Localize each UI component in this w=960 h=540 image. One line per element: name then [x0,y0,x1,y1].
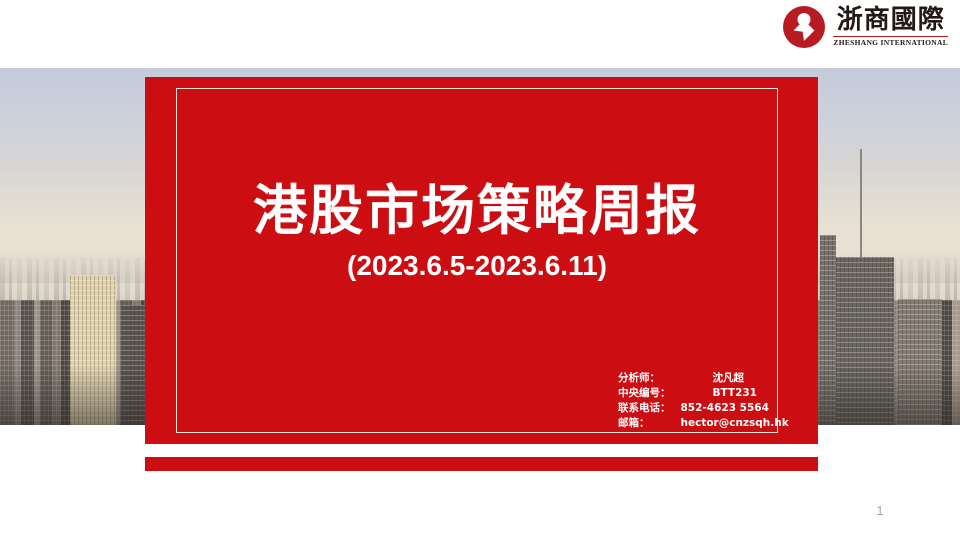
analyst-label-license: 中央编号： [618,386,681,401]
analyst-value-name: 沈凡超 [681,371,789,386]
analyst-row-phone: 联系电话： 852-4623 5564 [618,401,789,416]
lower-accent-bar [145,457,818,471]
page-subtitle: (2023.6.5-2023.6.11) [176,250,778,282]
analyst-info-block: 分析师： 沈凡超 中央编号： BTT231 联系电话： 852-4623 556… [618,371,789,431]
analyst-row-license: 中央编号： BTT231 [618,386,789,401]
analyst-label-phone: 联系电话： [618,401,681,416]
logo-name-en: ZHESHANG INTERNATIONAL [833,39,948,47]
analyst-value-phone: 852-4623 5564 [681,401,789,416]
tower-antenna [860,149,862,257]
analyst-label-name: 分析师： [618,371,681,386]
company-logo: 浙商國際 ZHESHANG INTERNATIONAL [783,6,948,48]
analyst-info-table: 分析师： 沈凡超 中央编号： BTT231 联系电话： 852-4623 556… [618,371,789,431]
title-slide: 浙商國際 ZHESHANG INTERNATIONAL 港股市场策略周报 (20… [0,0,960,540]
logo-name-cn: 浙商國際 [837,7,945,35]
analyst-value-license: BTT231 [681,386,789,401]
zheshang-circle-logo-icon [783,6,825,48]
analyst-value-email: hector@cnzsqh.hk [681,416,789,431]
analyst-row-name: 分析师： 沈凡超 [618,371,789,386]
analyst-row-email: 邮箱： hector@cnzsqh.hk [618,416,789,431]
logo-divider [833,36,948,37]
title-block: 港股市场策略周报 (2023.6.5-2023.6.11) [176,180,778,282]
analyst-label-email: 邮箱： [618,416,681,431]
page-number: 1 [868,503,892,518]
page-title: 港股市场策略周报 [176,180,778,242]
logo-wordmark: 浙商國際 ZHESHANG INTERNATIONAL [833,7,948,47]
